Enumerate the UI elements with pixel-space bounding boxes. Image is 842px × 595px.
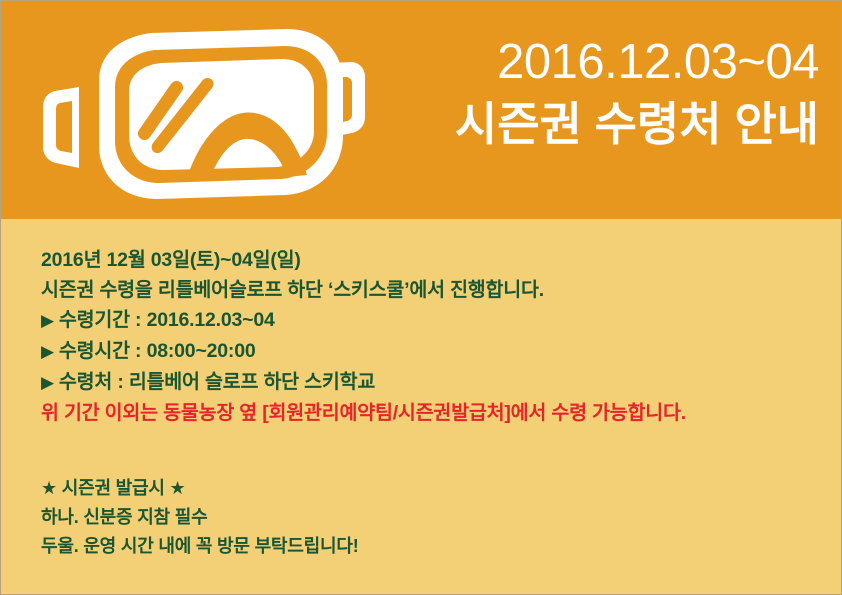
note-item-2: 두울. 운영 시간 내에 꼭 방문 부탁드립니다! — [41, 532, 819, 561]
poster-body: 2016년 12월 03일(토)~04일(일) 시즌권 수령을 리틀베어슬로프 … — [1, 219, 842, 595]
header-subject-title: 시즌권 수령처 안내 — [299, 93, 819, 155]
triangle-bullet-icon: ▶ — [41, 337, 54, 367]
intro-line-location: 시즌권 수령을 리틀베어슬로프 하단 ‘스키스쿨’에서 진행합니다. — [41, 275, 819, 305]
bullet-row-period: ▶수령기간 : 2016.12.03~04 — [41, 305, 819, 336]
section-spacer — [41, 428, 819, 474]
header-date-title: 2016.12.03~04 — [299, 31, 819, 93]
bullet-label-period: 수령기간 : 2016.12.03~04 — [59, 309, 275, 331]
bullet-row-time: ▶수령시간 : 08:00~20:00 — [41, 336, 819, 367]
triangle-bullet-icon: ▶ — [41, 306, 54, 336]
poster-header: 2016.12.03~04 시즌권 수령처 안내 — [1, 1, 842, 219]
triangle-bullet-icon: ▶ — [41, 368, 54, 398]
bullet-label-place: 수령처 : 리틀베어 슬로프 하단 스키학교 — [59, 371, 375, 393]
body-content: 2016년 12월 03일(토)~04일(일) 시즌권 수령을 리틀베어슬로프 … — [41, 245, 819, 561]
notes-heading: ★ 시즌권 발급시 ★ — [41, 474, 819, 503]
header-title-block: 2016.12.03~04 시즌권 수령처 안내 — [299, 31, 819, 155]
warning-line: 위 기간 이외는 동물농장 옆 [회원관리예약팀/시즌권발급처]에서 수령 가능… — [41, 398, 819, 428]
bullet-label-time: 수령시간 : 08:00~20:00 — [59, 340, 256, 362]
bullet-row-place: ▶수령처 : 리틀베어 슬로프 하단 스키학교 — [41, 367, 819, 398]
intro-line-date: 2016년 12월 03일(토)~04일(일) — [41, 245, 819, 275]
poster-root: 2016.12.03~04 시즌권 수령처 안내 2016년 12월 03일(토… — [0, 0, 842, 595]
note-item-1: 하나. 신분증 지참 필수 — [41, 503, 819, 532]
